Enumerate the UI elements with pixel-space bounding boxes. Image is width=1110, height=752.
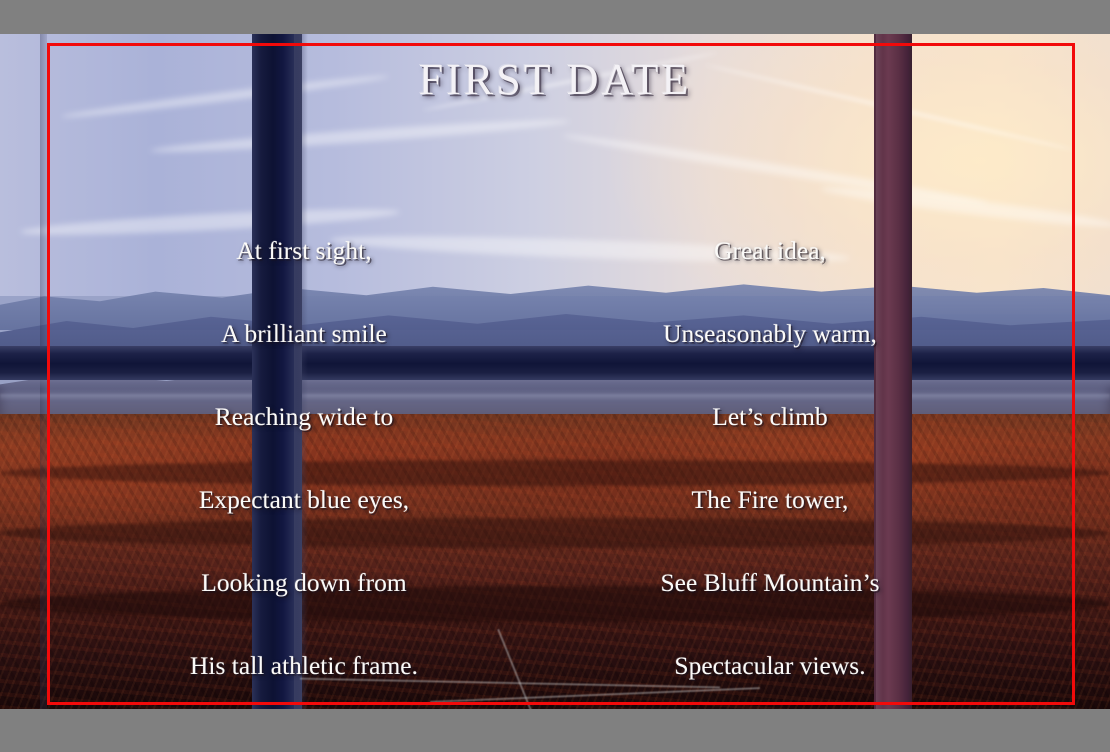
poem-line: At first sight, [94,237,514,265]
poem-line: Reaching wide to [94,403,514,431]
poem-line: Let’s climb [560,403,980,431]
poem-column-left: At first sight, A brilliant smile Reachi… [94,126,514,709]
screenshot-canvas: FIRST DATE At first sight, A brilliant s… [0,0,1110,752]
poem-text-layer: FIRST DATE At first sight, A brilliant s… [0,34,1110,709]
poem-line: A brilliant smile [94,320,514,348]
page-corner-top-left [0,0,46,34]
poem-line: Unseasonably warm, [560,320,980,348]
poem-line: The Fire tower, [560,486,980,514]
page-corner-top-right [1077,0,1110,34]
poem-column-right: Great idea, Unseasonably warm, Let’s cli… [560,126,980,709]
poem-line: See Bluff Mountain’s [560,569,980,597]
poem-line: Spectacular views. [560,652,980,680]
poem-line: Expectant blue eyes, [94,486,514,514]
poem-line: His tall athletic frame. [94,652,514,680]
page-corner-bottom-left [0,709,46,752]
poem-line: Great idea, [560,237,980,265]
stanza: At first sight, A brilliant smile Reachi… [94,181,514,709]
page-corner-bottom-right [1077,709,1110,752]
poem-line: Looking down from [94,569,514,597]
background-photograph: FIRST DATE At first sight, A brilliant s… [0,34,1110,709]
stanza: Great idea, Unseasonably warm, Let’s cli… [560,181,980,709]
page-title: FIRST DATE [0,54,1110,105]
